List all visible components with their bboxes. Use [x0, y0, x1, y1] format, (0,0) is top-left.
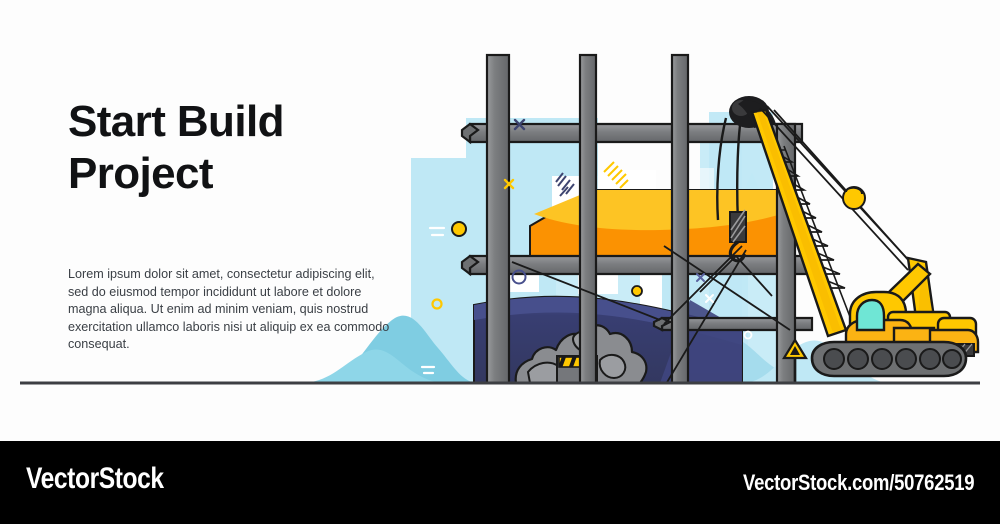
- orange-panel: [530, 190, 790, 260]
- body-paragraph: Lorem ipsum dolor sit amet, consectetur …: [68, 266, 398, 354]
- column-left: [487, 55, 509, 383]
- vectorstock-url: VectorStock.com/50762519: [743, 470, 974, 496]
- vectorstock-logo: VectorStock: [26, 462, 164, 496]
- text-column: Start Build Project: [68, 96, 408, 200]
- stay-pulley: [843, 187, 865, 209]
- column-mid: [580, 55, 596, 383]
- page-title: Start Build Project: [68, 96, 408, 200]
- poster-canvas: Start Build Project Lorem ipsum dolor si…: [0, 0, 1000, 524]
- crawler-track: [812, 342, 966, 376]
- cab-window: [857, 300, 884, 330]
- column-right: [672, 55, 688, 383]
- construction-illustration: [0, 0, 1000, 440]
